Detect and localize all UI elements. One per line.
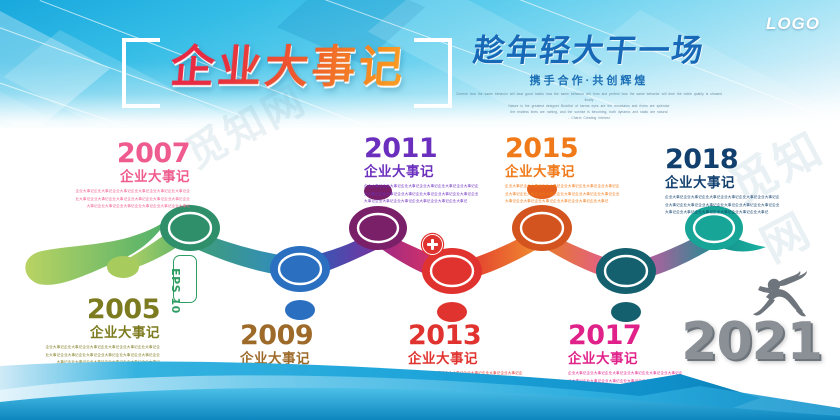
timeline-body-2018: 企业大事记企业大事记企业大事记企业大事记企业大事记企业大事记企业大事记企业大事记… xyxy=(665,194,783,216)
timeline-body-2007: 企业大事记企业大事记企业大事记企业大事记企业大事记企业大事记企业大事记企业大事记… xyxy=(72,188,190,210)
timeline-year-2005: 2005 xyxy=(42,296,160,323)
poster-canvas: LOGO 企业大事记 趁年轻大干一场 携手合作·共创辉煌 Cherish how… xyxy=(0,0,840,420)
timeline-label-2005: 企业大事记 xyxy=(42,325,160,341)
subtitle-headline: 趁年轻大干一场 xyxy=(453,34,725,68)
subtitle-block: 趁年轻大干一场 携手合作·共创辉煌 Cherish how the same b… xyxy=(455,34,723,121)
main-title-block: 企业大事记 xyxy=(122,38,452,100)
timeline-label-2007: 企业大事记 xyxy=(72,169,190,185)
timeline-node-marker-2013[interactable] xyxy=(422,248,482,322)
timeline-card-2007[interactable]: 2007 企业大事记 企业大事记企业大事记企业大事记企业大事记企业大事记企业大事… xyxy=(72,140,190,210)
subtitle-en-line-4: - Charm Creating Interest xyxy=(455,115,723,121)
timeline-body-2015: 企业大事记企业大事记企业大事记企业大事记企业大事记企业大事记企业大事记企业大事记… xyxy=(505,183,623,205)
subtitle-english-text: Cherish how the same behavior will bear … xyxy=(455,91,723,121)
timeline-node-marker-2007[interactable] xyxy=(160,205,220,251)
timeline-node-marker-2017[interactable] xyxy=(596,248,656,322)
timeline-year-2017: 2017 xyxy=(568,322,686,349)
timeline-node-marker-2009[interactable] xyxy=(270,246,330,320)
page-title: 企业大事记 xyxy=(135,37,440,99)
eps-badge-label: EPS 10 xyxy=(164,268,186,314)
company-logo[interactable]: LOGO xyxy=(766,14,820,34)
timeline-year-2009: 2009 xyxy=(240,322,358,349)
timeline-body-2011: 企业大事记企业大事记企业大事记企业大事记企业大事记企业大事记企业大事记企业大事记… xyxy=(364,183,482,205)
plus-icon[interactable] xyxy=(422,234,443,255)
timeline-year-2011: 2011 xyxy=(364,135,482,162)
timeline-card-2018[interactable]: 2018 企业大事记 企业大事记企业大事记企业大事记企业大事记企业大事记企业大事… xyxy=(665,146,783,216)
eps-badge: EPS 10 xyxy=(173,255,197,303)
timeline-card-2015[interactable]: 2015 企业大事记 企业大事记企业大事记企业大事记企业大事记企业大事记企业大事… xyxy=(505,135,623,205)
timeline-year-2013: 2013 xyxy=(408,322,526,349)
timeline-label-2018: 企业大事记 xyxy=(665,175,783,191)
timeline-label-2015: 企业大事记 xyxy=(505,164,623,180)
timeline-node-marker-2005[interactable] xyxy=(107,256,139,278)
timeline-year-2015: 2015 xyxy=(505,135,623,162)
timeline-card-2011[interactable]: 2011 企业大事记 企业大事记企业大事记企业大事记企业大事记企业大事记企业大事… xyxy=(364,135,482,205)
subtitle-tagline: 携手合作·共创辉煌 xyxy=(455,72,723,88)
timeline-label-2011: 企业大事记 xyxy=(364,164,482,180)
subtitle-en-line-1: Cherish how the same behavior will bear … xyxy=(455,91,723,103)
footer-wave-graphics xyxy=(0,350,840,420)
timeline-year-2018: 2018 xyxy=(665,146,783,173)
timeline-year-2007: 2007 xyxy=(72,140,190,167)
